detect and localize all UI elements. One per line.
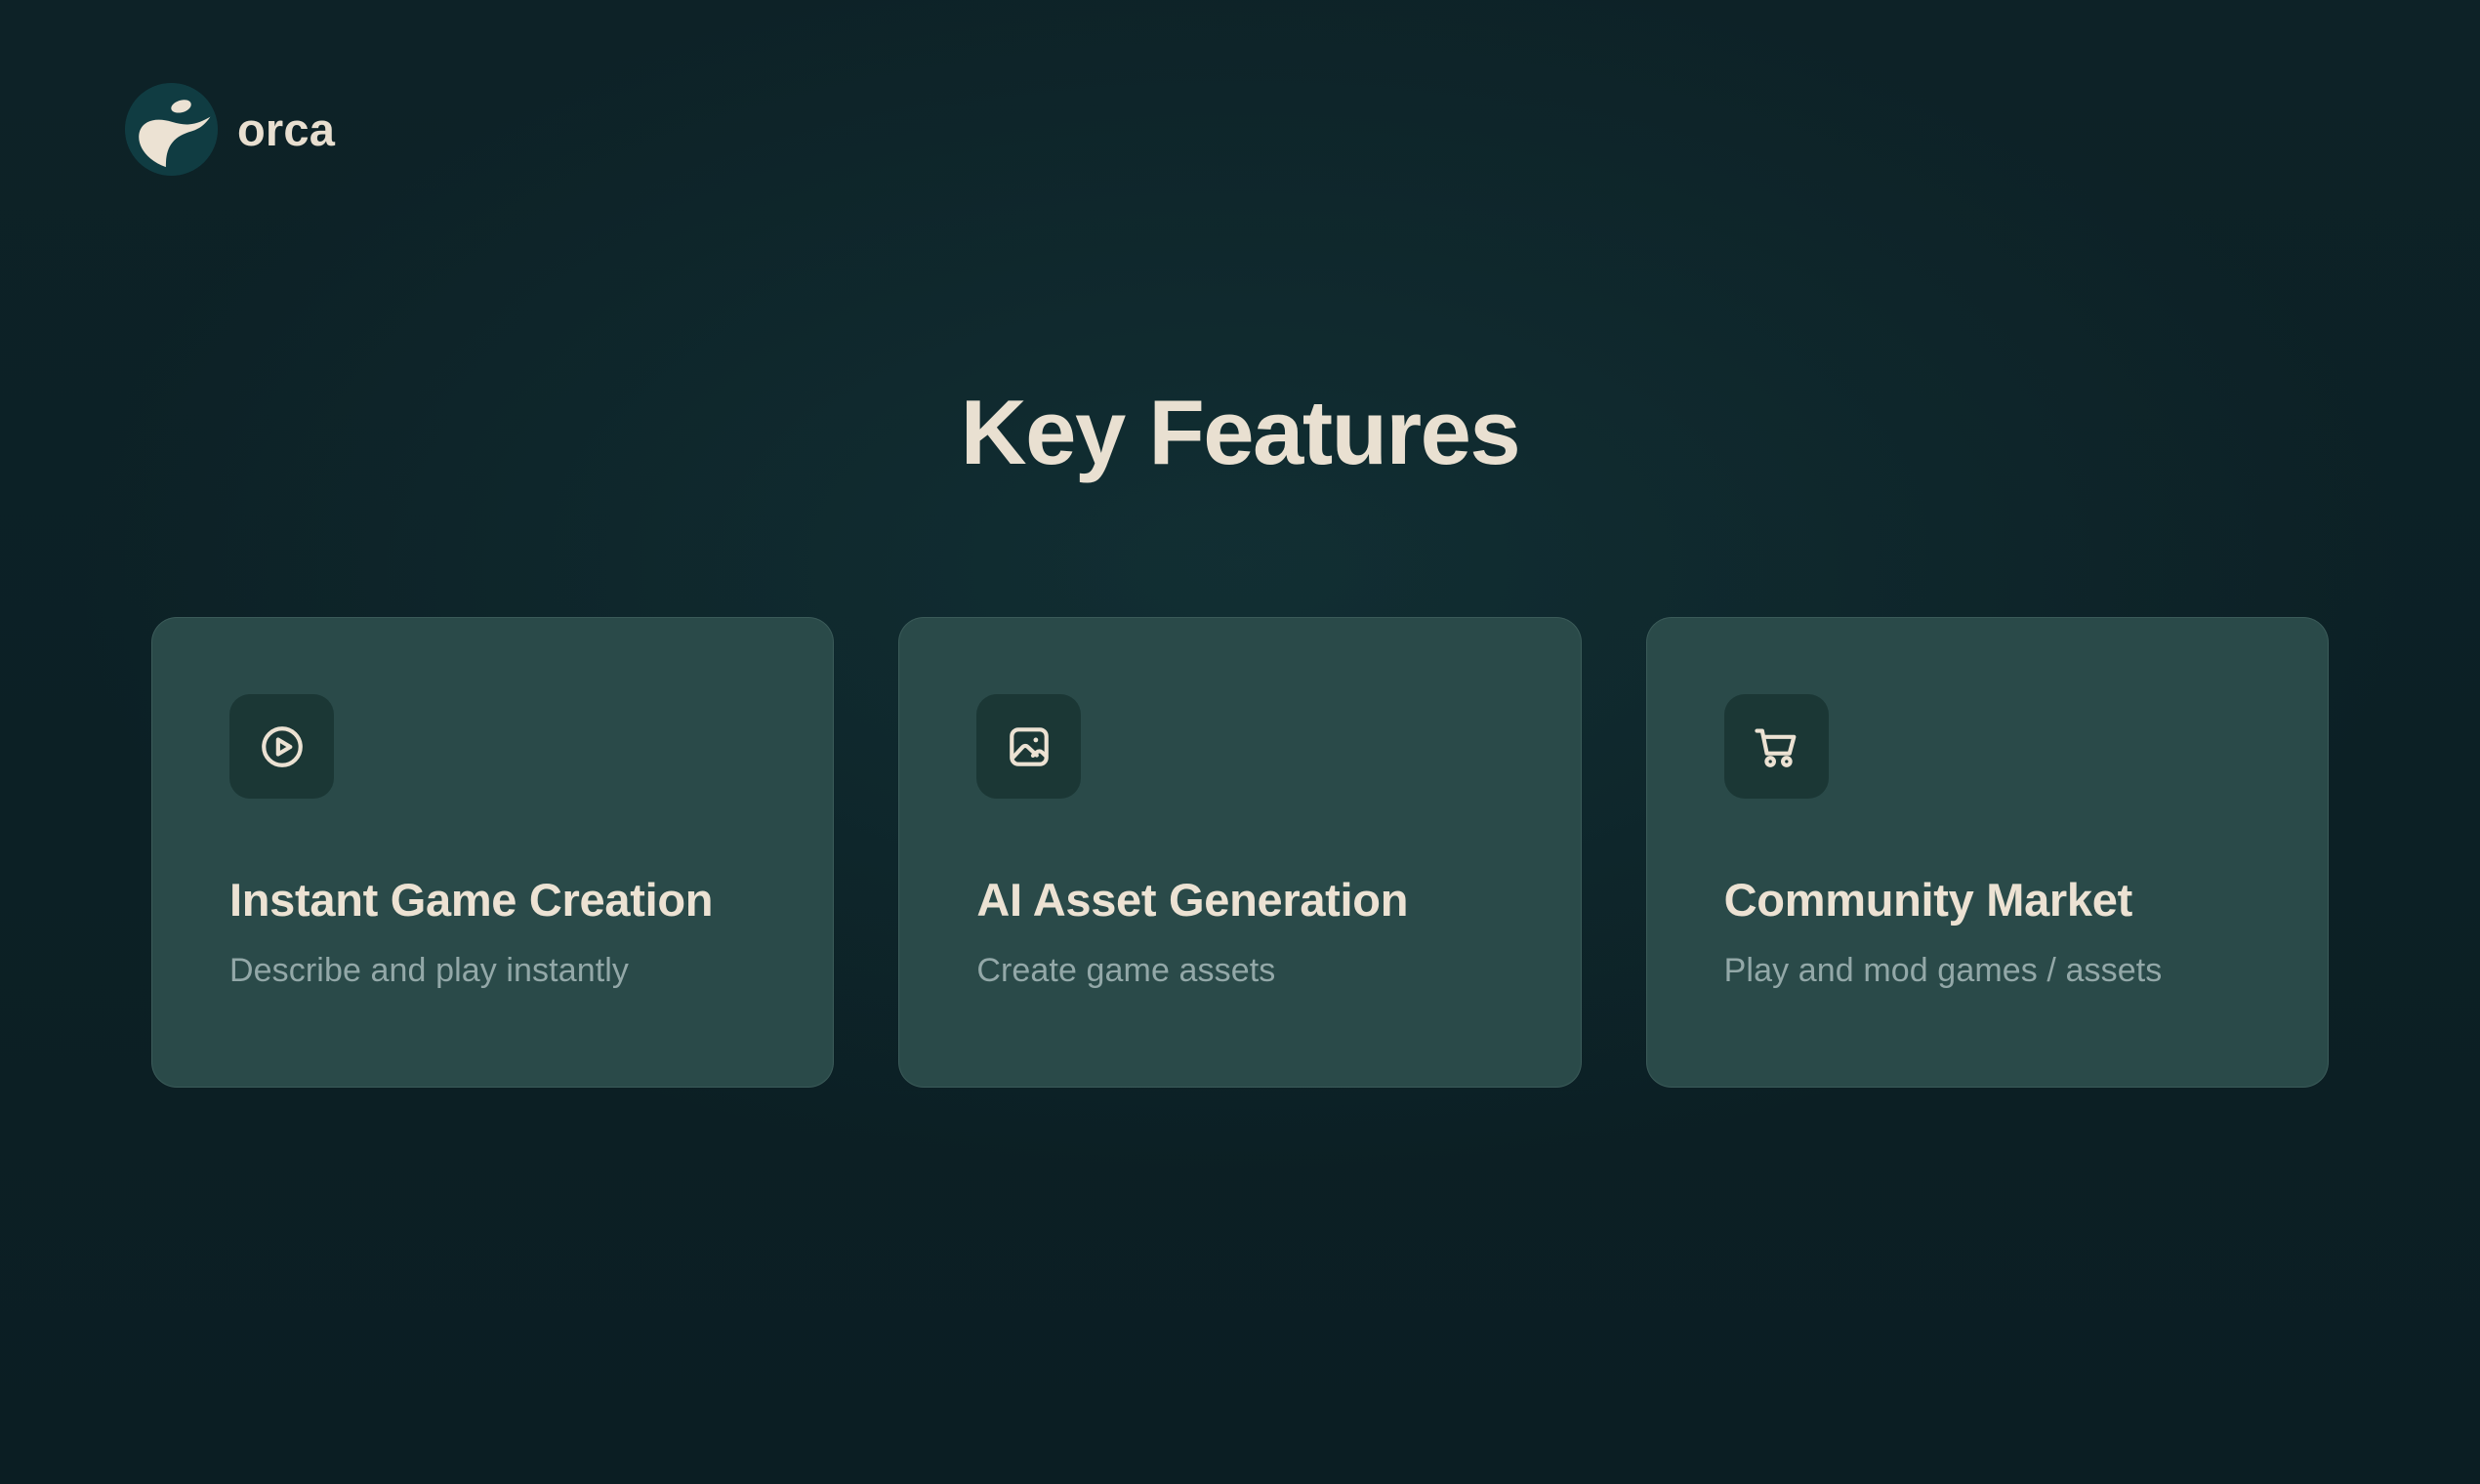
image-icon <box>976 694 1081 799</box>
shopping-cart-icon <box>1724 694 1829 799</box>
brand-name: orca <box>237 106 335 152</box>
feature-card-ai-asset-generation[interactable]: AI Asset Generation Create game assets <box>898 617 1581 1088</box>
feature-card-title: Community Market <box>1724 875 2328 926</box>
feature-card-title: AI Asset Generation <box>976 875 1580 926</box>
circle-play-icon <box>229 694 334 799</box>
feature-card-description: Create game assets <box>976 952 1580 990</box>
feature-card-description: Play and mod games / assets <box>1724 952 2328 990</box>
feature-card-title: Instant Game Creation <box>229 875 833 926</box>
feature-card-description: Describe and play instantly <box>229 952 833 990</box>
feature-card-instant-game-creation[interactable]: Instant Game Creation Describe and play … <box>151 617 834 1088</box>
feature-card-community-market[interactable]: Community Market Play and mod games / as… <box>1646 617 2329 1088</box>
brand-logo[interactable]: orca <box>125 83 335 176</box>
feature-cards-grid: Instant Game Creation Describe and play … <box>151 617 2329 1088</box>
orca-fin-logo-icon <box>125 83 218 176</box>
page-title: Key Features <box>0 383 2480 482</box>
